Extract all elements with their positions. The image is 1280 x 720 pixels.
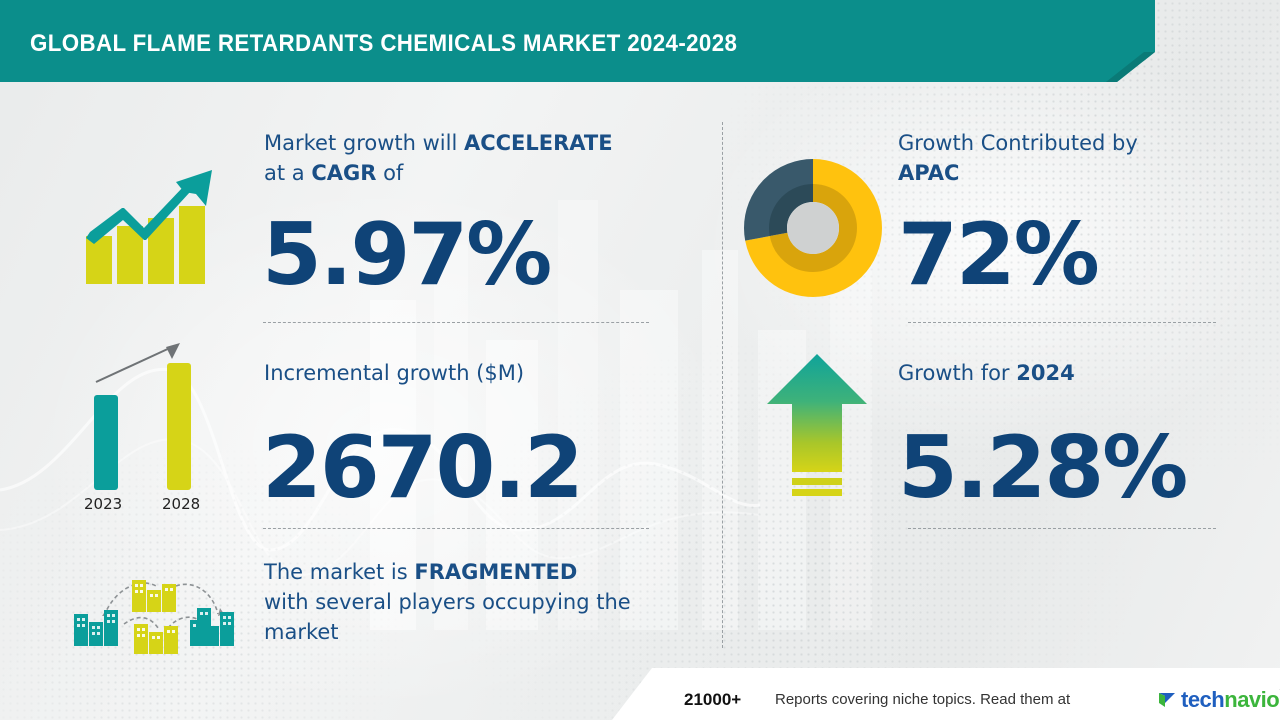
growth-2024-value: 5.28%: [898, 418, 1186, 518]
logo-text-tech: tech: [1181, 687, 1224, 712]
cagr-label: Market growth will ACCELERATE at a CAGR …: [264, 128, 684, 188]
footer-text: Reports covering niche topics. Read them…: [775, 691, 1070, 708]
buildings-network-icon: [72, 558, 242, 663]
apac-label: Growth Contributed by APAC: [898, 128, 1228, 188]
fragmented-line2: with several players occupying the: [264, 590, 631, 614]
fragmented-line1: The market is FRAGMENTED: [264, 560, 577, 584]
growth-2024-label-pre: Growth for: [898, 361, 1016, 385]
divider-left-top: [263, 322, 649, 323]
apac-value: 72%: [898, 205, 1098, 305]
logo-text-navio: navio: [1224, 687, 1279, 712]
technavio-wordmark: technavio ™: [1181, 687, 1279, 713]
technavio-logo[interactable]: technavio ™: [1158, 686, 1279, 714]
donut-chart-icon: [743, 158, 883, 298]
cagr-label-line1: Market growth will ACCELERATE: [264, 131, 613, 155]
apac-label-strong: APAC: [898, 161, 959, 185]
column-divider: [722, 122, 723, 648]
bar-comparison-icon: [72, 335, 232, 520]
technavio-mark-icon: [1158, 690, 1178, 710]
incremental-growth-label: Incremental growth ($M): [264, 358, 684, 388]
fragmented-label: The market is FRAGMENTED with several pl…: [264, 557, 684, 647]
growth-2024-label: Growth for 2024: [898, 358, 1228, 388]
fragmented-line3: market: [264, 620, 339, 644]
apac-label-line1: Growth Contributed by: [898, 131, 1138, 155]
page-title: GLOBAL FLAME RETARDANTS CHEMICALS MARKET…: [30, 30, 737, 58]
incremental-growth-value: 2670.2: [262, 418, 582, 518]
footer-report-count: 21000+: [684, 690, 741, 710]
bar-year-2028: 2028: [162, 495, 200, 513]
cagr-label-line2: at a CAGR of: [264, 161, 403, 185]
divider-right-bottom: [908, 528, 1216, 529]
divider-left-bottom: [263, 528, 649, 529]
up-arrow-icon: [762, 348, 872, 508]
growth-chart-icon: [72, 140, 232, 290]
growth-2024-label-strong: 2024: [1016, 361, 1074, 385]
divider-right-top: [908, 322, 1216, 323]
bar-year-2023: 2023: [84, 495, 122, 513]
cagr-value: 5.97%: [262, 205, 550, 305]
